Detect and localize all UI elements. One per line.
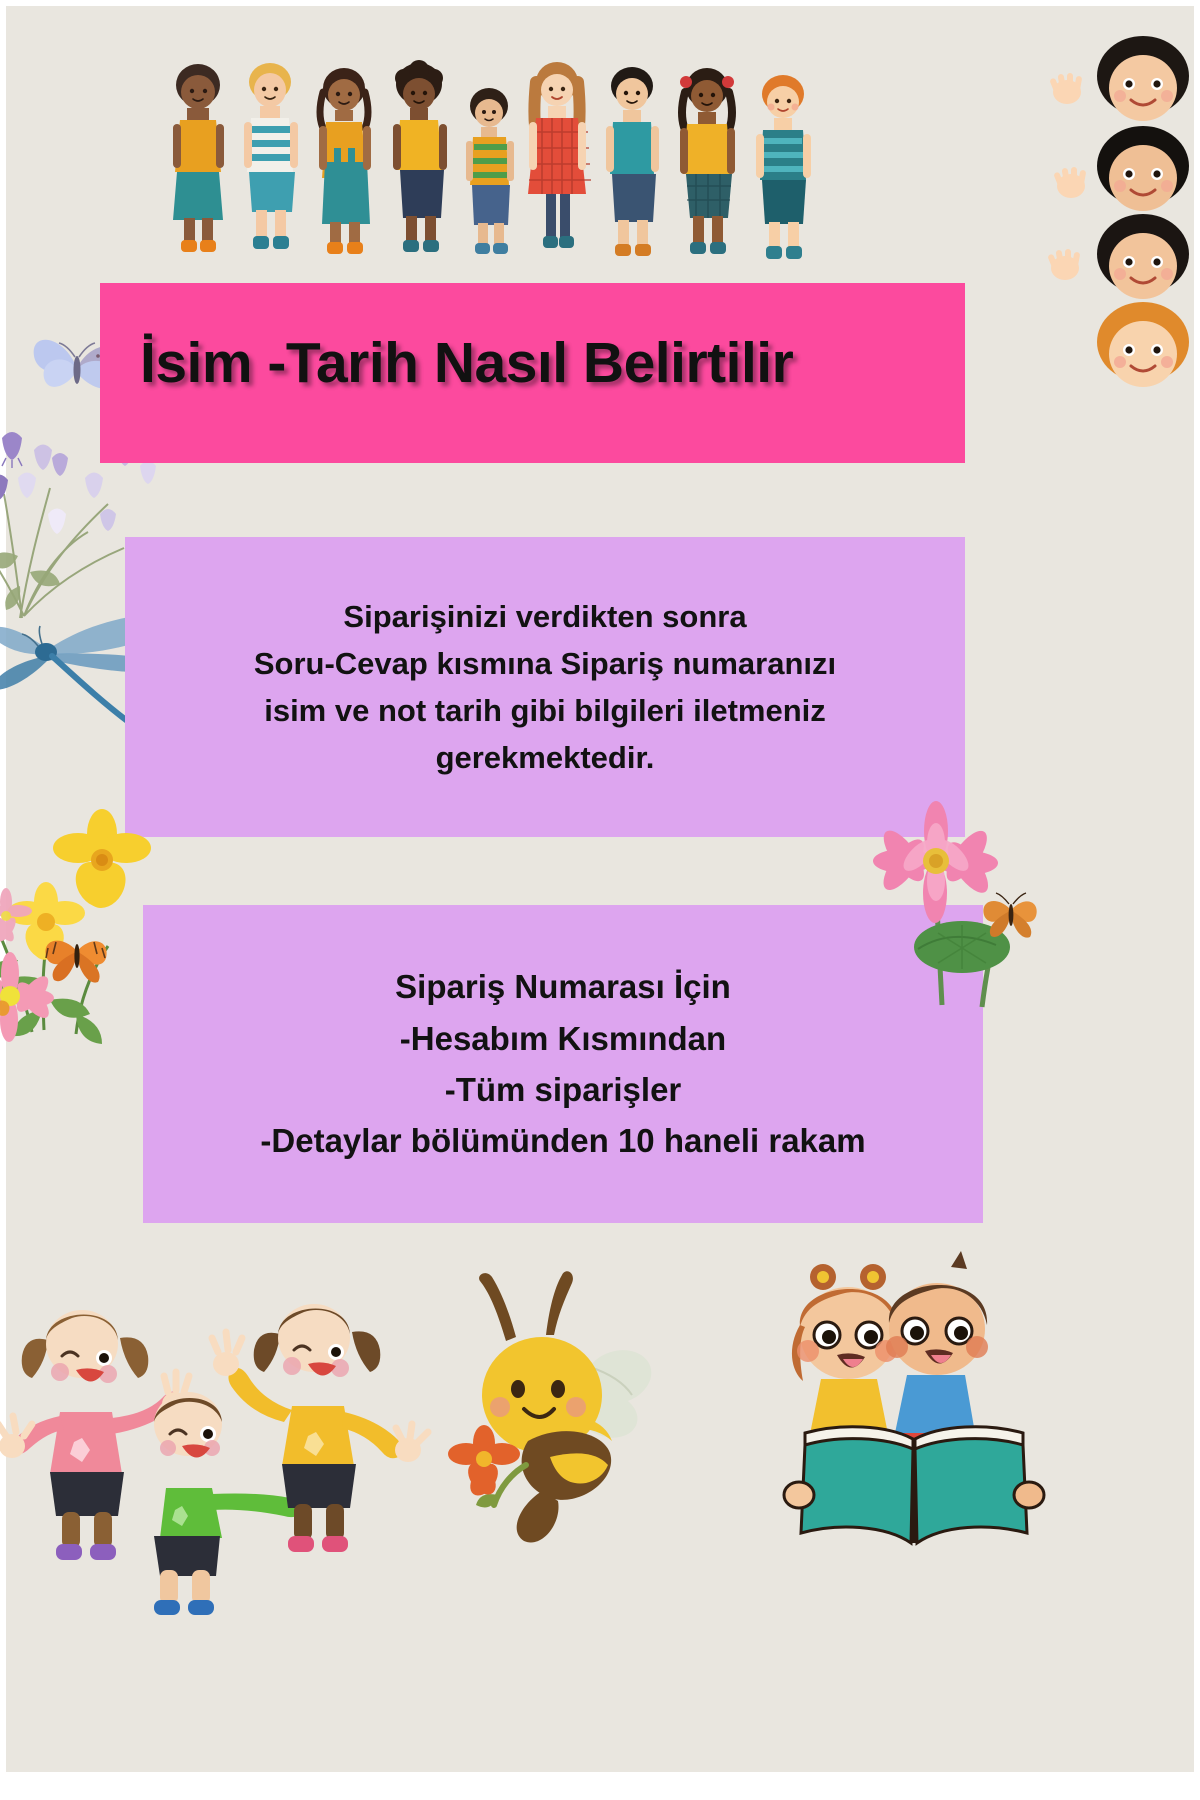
waving-children-illustration: [10, 1280, 440, 1570]
children-reading-book-illustration: [765, 1255, 1065, 1555]
lotus-flower-butterfly-illustration: [870, 805, 1065, 1015]
box1-line-4: gerekmektedir.: [436, 734, 655, 781]
peeking-children-waving-illustration: [1025, 38, 1200, 408]
page-title: İsim -Tarih Nasıl Belirtilir: [140, 330, 1020, 396]
box2-line-3: -Tüm siparişler: [445, 1064, 682, 1115]
daisy-flowers-butterfly-illustration: [0, 800, 194, 1035]
bottom-border: [0, 1772, 1200, 1800]
box1-line-1: Siparişinizi verdikten sonra: [343, 593, 746, 640]
box1-line-2: Soru-Cevap kısmına Sipariş numaranızı: [254, 640, 836, 687]
box2-line-1: Sipariş Numarası İçin: [395, 961, 731, 1012]
info-box-order-instructions: Siparişinizi verdikten sonra Soru-Cevap …: [125, 537, 965, 837]
box2-line-4: -Detaylar bölümünden 10 haneli rakam: [260, 1115, 865, 1166]
info-box-order-number-steps: Sipariş Numarası İçin -Hesabım Kısmından…: [143, 905, 983, 1223]
poster-canvas: İsim -Tarih Nasıl Belirtilir Siparişiniz…: [0, 0, 1200, 1800]
box1-line-3: isim ve not tarih gibi bilgileri iletmen…: [264, 687, 826, 734]
top-border: [0, 0, 1200, 6]
box2-line-2: -Hesabım Kısmından: [400, 1013, 726, 1064]
children-row-illustration: [160, 52, 850, 267]
bee-with-flower-illustration: [450, 1255, 700, 1545]
